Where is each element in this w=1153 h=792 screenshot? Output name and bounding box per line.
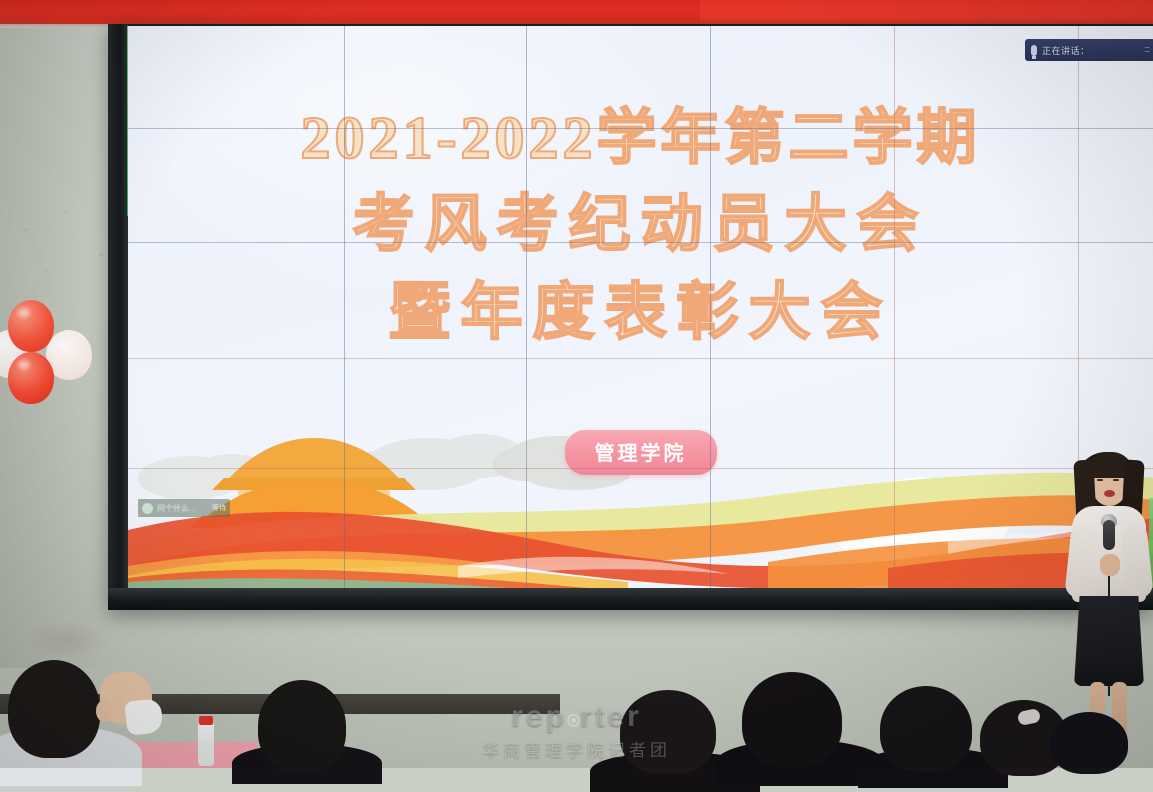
led-video-wall: 2021-2022学年第二学期 考风考纪动员大会 暨年度表彰大会 管理学院 正在… bbox=[108, 24, 1153, 610]
bottle-cap bbox=[199, 716, 213, 725]
presenter-eye-left bbox=[1097, 479, 1103, 481]
question-tag: 等待 bbox=[212, 503, 226, 513]
ribbon-waves bbox=[128, 473, 1153, 588]
question-chip[interactable]: 问个什么… 等待 bbox=[138, 499, 230, 517]
presenter-mouth bbox=[1104, 490, 1115, 497]
wall-scuff bbox=[20, 620, 110, 660]
balloon-highlight bbox=[18, 308, 30, 317]
question-label: 问个什么… bbox=[157, 503, 197, 514]
screen-seam-h2 bbox=[128, 242, 1153, 243]
title-line-3: 暨年度表彰大会 bbox=[128, 282, 1153, 344]
presenter-eye-right bbox=[1113, 479, 1119, 481]
screen-seam-h1 bbox=[128, 128, 1153, 129]
waveform-icon: ∶∶∶ bbox=[1144, 45, 1149, 56]
bezel-left bbox=[108, 24, 128, 610]
slide-screen: 2021-2022学年第二学期 考风考纪动员大会 暨年度表彰大会 管理学院 正在… bbox=[128, 26, 1153, 588]
title-line-1: 2021-2022学年第二学期 bbox=[128, 108, 1153, 168]
speaking-label: 正在讲话： bbox=[1042, 44, 1090, 57]
balloon-red-bottom bbox=[8, 352, 54, 404]
audience-head bbox=[742, 672, 842, 768]
audience-head bbox=[880, 686, 972, 772]
balloon-red-top bbox=[8, 300, 54, 352]
bezel-bottom bbox=[108, 588, 1153, 610]
microphone-icon bbox=[1031, 45, 1037, 56]
presenter-skirt bbox=[1074, 596, 1144, 686]
audience-head bbox=[1050, 712, 1128, 774]
screen-seam-v3 bbox=[710, 26, 711, 588]
handheld-microphone bbox=[1103, 520, 1115, 550]
presenter bbox=[1062, 446, 1153, 736]
screen-seam-h4 bbox=[128, 468, 1153, 469]
slide-title-block: 2021-2022学年第二学期 考风考纪动员大会 暨年度表彰大会 bbox=[128, 26, 1153, 344]
screen-seam-v1 bbox=[344, 26, 345, 588]
photo-scene: 考风考纪动员大会 bbox=[0, 0, 1153, 768]
screen-seam-v2 bbox=[526, 26, 527, 588]
audience-head bbox=[8, 660, 100, 758]
avatar-icon bbox=[142, 503, 153, 514]
screen-seam-h3 bbox=[128, 358, 1153, 359]
peace-dove bbox=[828, 478, 1050, 578]
bottle-label bbox=[198, 740, 214, 756]
balloon-highlight bbox=[18, 360, 30, 369]
presenter-hands bbox=[1100, 554, 1120, 576]
title-line-2: 考风考纪动员大会 bbox=[128, 194, 1153, 256]
audience-head bbox=[620, 690, 716, 774]
screen-seam-v4 bbox=[894, 26, 895, 588]
audience-head bbox=[258, 680, 346, 772]
speaking-status-chip[interactable]: 正在讲话： ∶∶∶ bbox=[1025, 39, 1153, 61]
audience-ear bbox=[96, 700, 112, 722]
